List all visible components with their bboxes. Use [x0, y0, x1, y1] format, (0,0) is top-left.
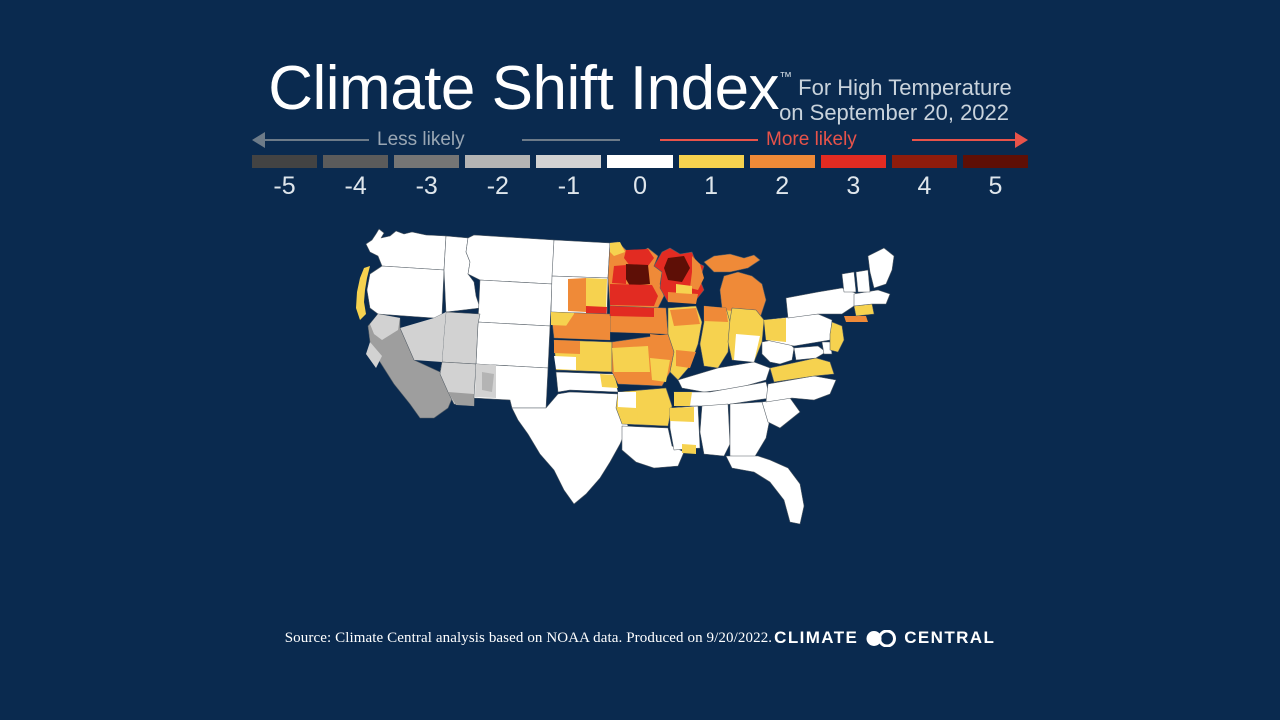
legend-line-more-left	[660, 139, 758, 141]
subtitle-line-1: ™ For High Temperature	[779, 64, 1012, 100]
logo-word-central: CENTRAL	[904, 628, 995, 648]
legend-swatch-3	[821, 155, 886, 168]
source-text: Source: Climate Central analysis based o…	[285, 630, 772, 647]
legend-tick--2: -2	[465, 172, 530, 200]
legend-line-less-right	[522, 139, 620, 141]
us-choropleth-map[interactable]	[318, 222, 962, 602]
legend-tick--4: -4	[323, 172, 388, 200]
legend-tick-2: 2	[750, 172, 815, 200]
legend-swatch--1	[536, 155, 601, 168]
legend-swatch-1	[679, 155, 744, 168]
legend-direction-arrows: Less likely More likely	[252, 128, 1028, 152]
infographic-canvas: Climate Shift Index ™ For High Temperatu…	[0, 0, 1280, 720]
legend-tick-5: 5	[963, 172, 1028, 200]
subtitle-line-1-text: For High Temperature	[792, 75, 1012, 100]
legend-swatch--2	[465, 155, 530, 168]
legend-tick-0: 0	[607, 172, 672, 200]
legend-label-less-likely: Less likely	[377, 128, 465, 152]
climate-central-logo: CLIMATE CENTRAL	[774, 628, 995, 648]
legend-swatch--5	[252, 155, 317, 168]
legend-tick-labels: -5-4-3-2-1012345	[252, 172, 1028, 200]
legend-tick-4: 4	[892, 172, 957, 200]
legend-swatch--3	[394, 155, 459, 168]
interlocking-circles-icon	[864, 630, 898, 647]
legend-tick-1: 1	[679, 172, 744, 200]
legend-swatch-2	[750, 155, 815, 168]
subtitle-line-2: on September 20, 2022	[779, 100, 1009, 125]
legend-swatch-4	[892, 155, 957, 168]
legend-swatch--4	[323, 155, 388, 168]
header: Climate Shift Index ™ For High Temperatu…	[0, 58, 1280, 125]
footer: Source: Climate Central analysis based o…	[0, 628, 1280, 648]
legend-line-less-left	[264, 139, 369, 141]
page-title: Climate Shift Index	[268, 58, 779, 120]
legend-label-more-likely: More likely	[766, 128, 857, 152]
legend-tick-3: 3	[821, 172, 886, 200]
legend-swatch-0	[607, 155, 672, 168]
legend-tick--1: -1	[536, 172, 601, 200]
title-subtitle-block: ™ For High Temperature on September 20, …	[779, 58, 1012, 125]
arrow-right-icon	[1015, 132, 1028, 148]
state-shapes	[356, 229, 894, 524]
trademark-icon: ™	[779, 69, 792, 84]
map-svg	[318, 222, 962, 602]
legend-swatch-5	[963, 155, 1028, 168]
legend-tick--3: -3	[394, 172, 459, 200]
legend-swatches	[252, 155, 1028, 168]
legend-tick--5: -5	[252, 172, 317, 200]
legend-line-more-right	[912, 139, 1015, 141]
logo-word-climate: CLIMATE	[774, 628, 858, 648]
legend: Less likely More likely -5-4-3-2-1012345	[252, 128, 1028, 200]
